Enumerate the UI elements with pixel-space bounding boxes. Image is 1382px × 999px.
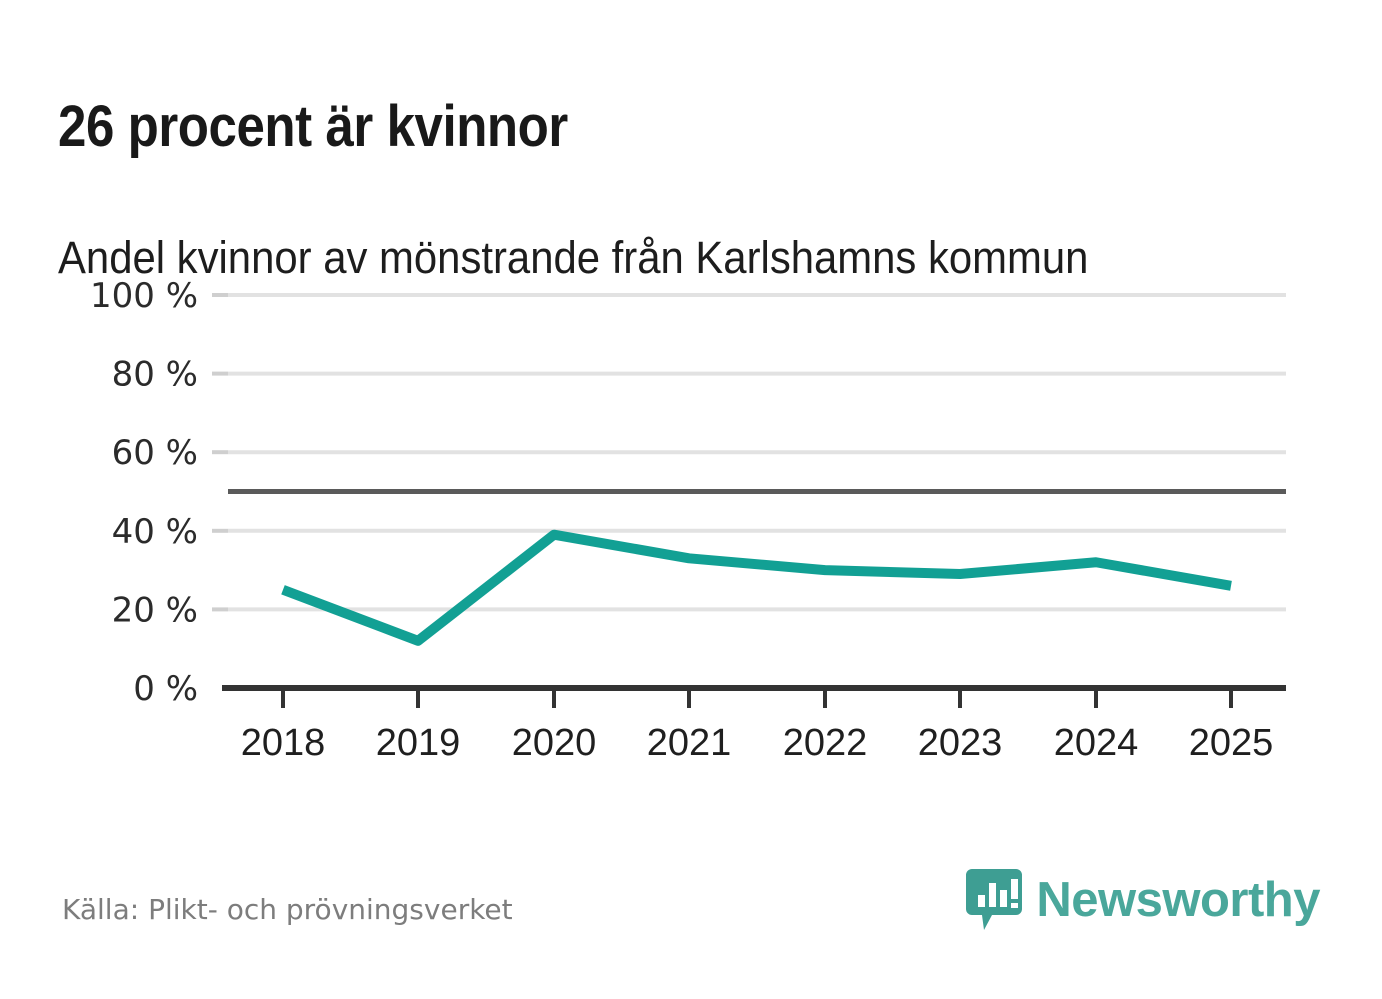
y-tick-label: 20 % [112,590,198,630]
x-tick-label: 2025 [1189,722,1274,764]
y-tick-label: 100 % [90,276,198,316]
data-series-line [283,535,1231,641]
y-tick-label: 80 % [112,355,198,395]
newsworthy-logo: Newsworthy [966,868,1320,932]
y-tick-label: 40 % [112,512,198,552]
logo-wordmark: Newsworthy [1036,876,1320,925]
source-note: Källa: Plikt- och prövningsverket [62,893,513,926]
page-title: 26 procent är kvinnor [58,97,1167,158]
chart-page: 26 procent är kvinnor Andel kvinnor av m… [0,0,1382,999]
x-tick-label: 2021 [647,722,732,764]
x-tick-label: 2022 [783,722,868,764]
y-tick-marks [212,295,228,609]
x-tick-label: 2024 [1054,722,1139,764]
speech-bubble-bar-chart-icon [966,869,1022,931]
y-axis-labels: 100 % 80 % 60 % 40 % 20 % 0 % [90,276,198,709]
x-tick-label: 2018 [241,722,326,764]
x-tick-label: 2023 [918,722,1003,764]
line-chart: 100 % 80 % 60 % 40 % 20 % 0 % 2018 [0,268,1382,788]
y-tick-label: 0 % [133,669,198,709]
chart-canvas: 100 % 80 % 60 % 40 % 20 % 0 % 2018 [0,268,1382,788]
y-tick-label: 60 % [112,433,198,473]
x-axis-labels: 2018 2019 2020 2021 2022 2023 2024 2025 [241,722,1274,764]
x-tick-label: 2019 [376,722,461,764]
x-tick-label: 2020 [512,722,597,764]
